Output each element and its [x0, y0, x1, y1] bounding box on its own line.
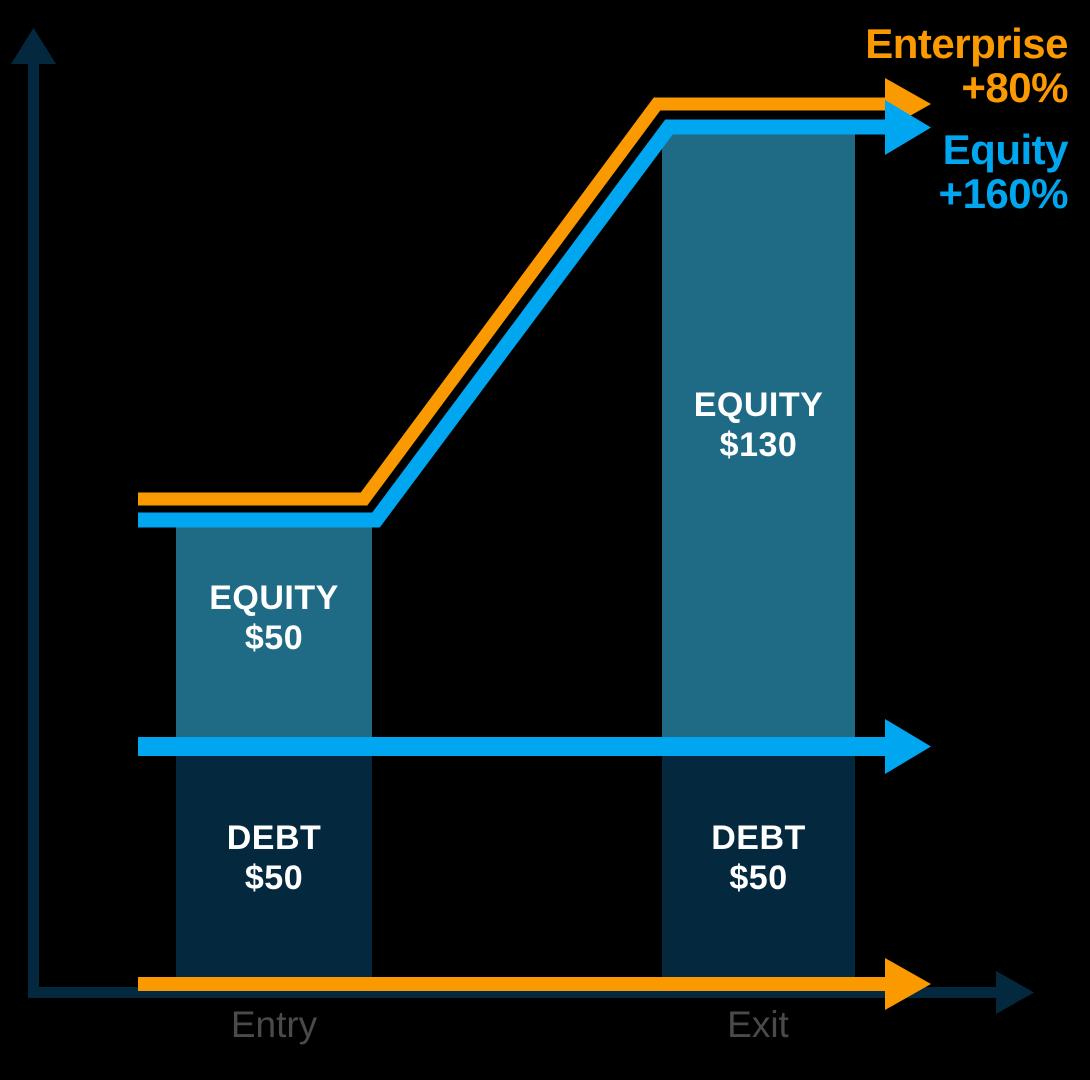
entry-debt-amount: $50	[176, 858, 372, 898]
x-axis-arrowhead	[996, 971, 1034, 1014]
y-axis-line	[28, 62, 39, 998]
exit-debt-title: DEBT	[662, 818, 855, 858]
exit-debt-amount: $50	[662, 858, 855, 898]
x-axis-label-exit: Exit	[660, 1004, 856, 1046]
x-axis-label-entry: Entry	[174, 1004, 374, 1046]
divider-arrowhead	[885, 719, 931, 774]
lbo-value-bridge-chart	[0, 0, 1090, 1080]
chart-canvas: EQUITY $50 DEBT $50 EQUITY $130 DEBT $50…	[0, 0, 1090, 1080]
equity-growth-callout: Equity +160%	[939, 128, 1068, 215]
entry-equity-label: EQUITY $50	[176, 578, 372, 658]
enterprise-growth-callout: Enterprise +80%	[865, 22, 1068, 109]
exit-equity-title: EQUITY	[662, 385, 855, 425]
exit-debt-label: DEBT $50	[662, 818, 855, 898]
entry-debt-title: DEBT	[176, 818, 372, 858]
equity-callout-label: Equity	[939, 128, 1068, 172]
y-axis-arrowhead	[11, 28, 56, 64]
enterprise-callout-value: +80%	[865, 66, 1068, 110]
entry-equity-title: EQUITY	[176, 578, 372, 618]
exit-equity-amount: $130	[662, 425, 855, 465]
entry-debt-label: DEBT $50	[176, 818, 372, 898]
enterprise-callout-label: Enterprise	[865, 22, 1068, 66]
equity-callout-value: +160%	[939, 172, 1068, 216]
exit-equity-label: EQUITY $130	[662, 385, 855, 465]
entry-equity-amount: $50	[176, 618, 372, 658]
baseline-arrowhead	[885, 958, 931, 1010]
